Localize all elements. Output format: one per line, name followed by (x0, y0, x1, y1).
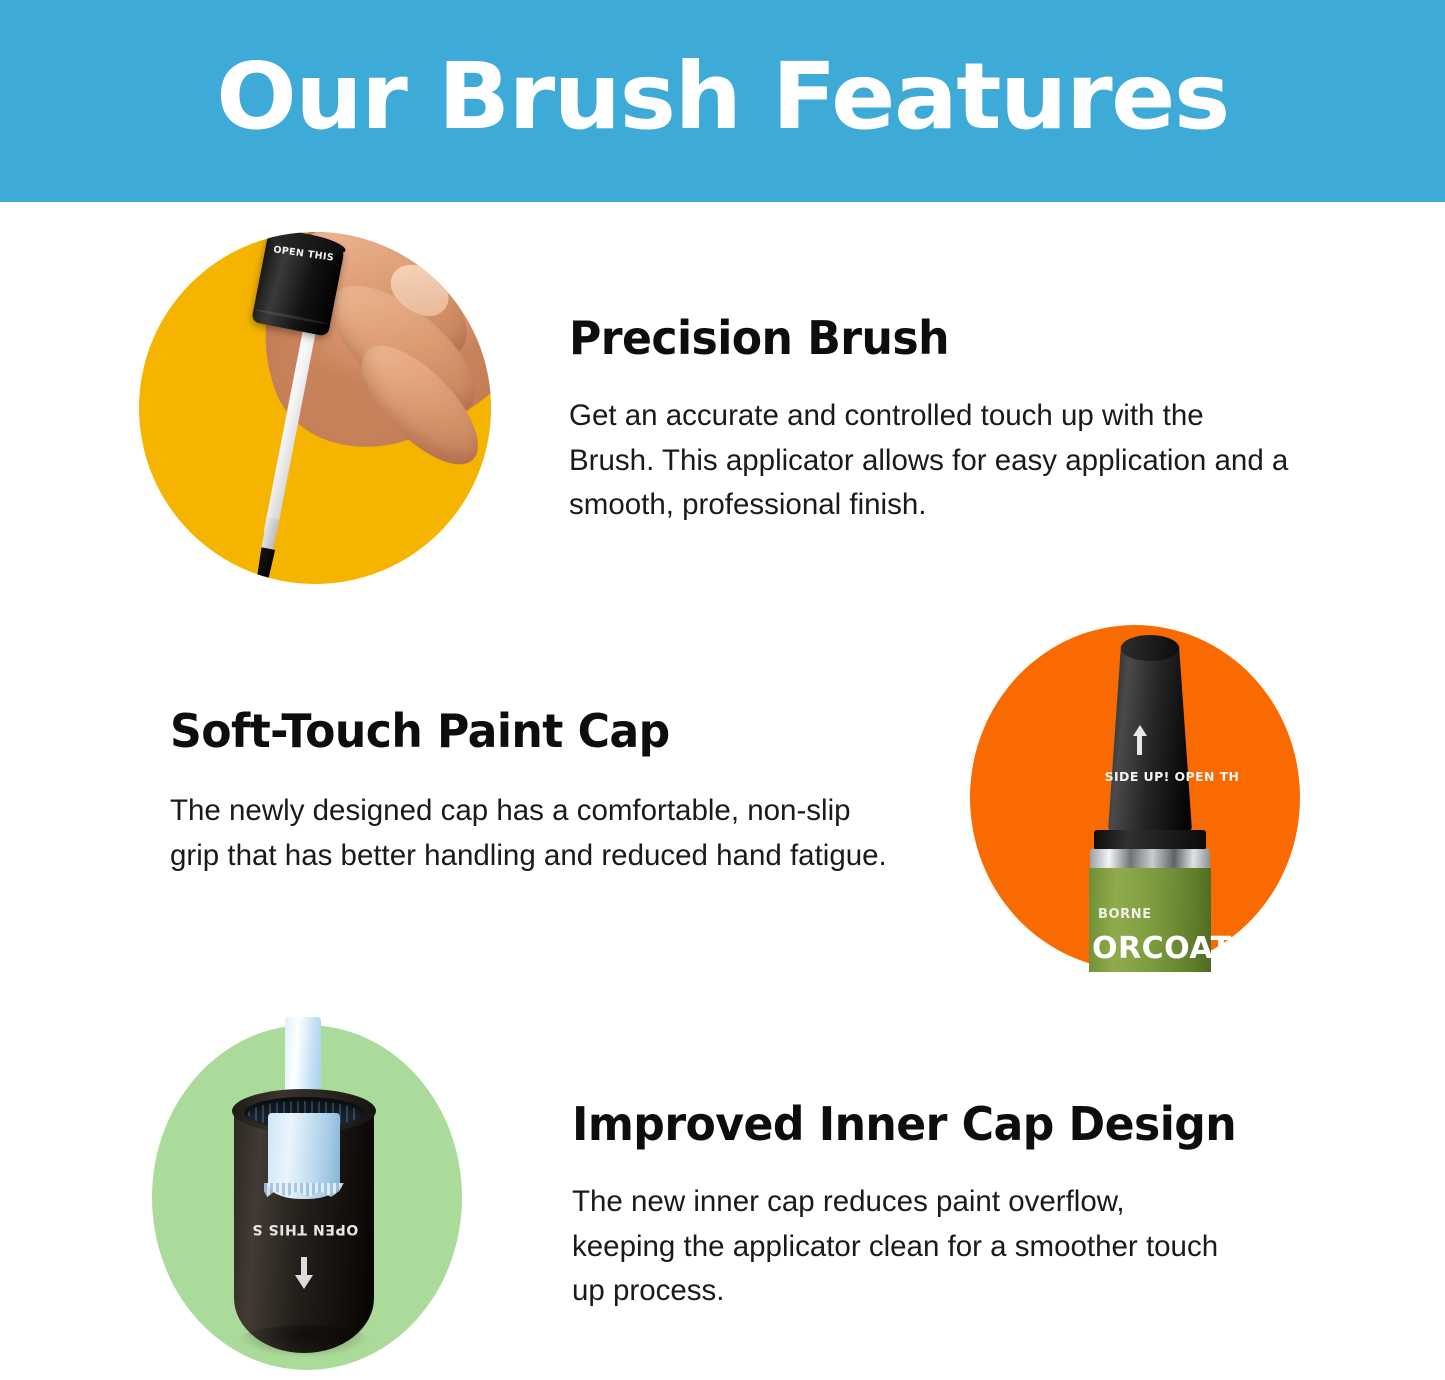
page-header-banner: Our Brush Features (0, 0, 1445, 202)
feature-body: The newly designed cap has a comfortable… (170, 789, 900, 879)
soft-touch-cap-photo: SIDE UP! OPEN TH BORNE ORCOAT (970, 625, 1300, 970)
bottle-label-large: ORCOAT (1092, 931, 1232, 966)
cap-dome (1121, 635, 1179, 661)
bottle-label-small: BORNE (1098, 907, 1152, 922)
cap-label-text: OPEN THIS S (247, 1221, 363, 1237)
feature-copy-improved-inner-cap-design: Improved Inner Cap Design The new inner … (572, 1100, 1272, 1314)
feature-body: Get an accurate and controlled touch up … (569, 394, 1294, 528)
precision-brush-photo: OPEN THIS (139, 232, 491, 584)
brush-ferrule (261, 517, 279, 553)
feature-row-soft-touch-paint-cap: Soft-Touch Paint Cap The newly designed … (0, 625, 1300, 970)
inner-cap-photo: OPEN THIS S (152, 1025, 462, 1370)
feature-title: Precision Brush (569, 314, 1270, 364)
feature-row-improved-inner-cap-design: OPEN THIS S Improved Inner Cap Design Th… (0, 1025, 1320, 1370)
down-arrow-icon (295, 1257, 313, 1291)
tapered-cap-body (1108, 639, 1192, 831)
page-title: Our Brush Features (216, 51, 1228, 151)
soft-touch-cap-illustration: SIDE UP! OPEN TH BORNE ORCOAT (970, 625, 1300, 970)
feature-title: Improved Inner Cap Design (572, 1100, 1244, 1150)
cap-label-text: SIDE UP! OPEN TH (1092, 769, 1252, 784)
brush-bristles (251, 547, 275, 584)
feature-title: Soft-Touch Paint Cap (170, 707, 873, 757)
feature-copy-precision-brush: Precision Brush Get an accurate and cont… (569, 314, 1299, 528)
cap-collar (1094, 830, 1206, 850)
feature-row-precision-brush: OPEN THIS Precision Brush Get an accurat… (0, 232, 1340, 584)
cap-base-shadow (238, 1325, 370, 1357)
cap-ring (255, 308, 328, 325)
feature-copy-soft-touch-paint-cap: Soft-Touch Paint Cap The newly designed … (170, 707, 902, 878)
feature-body: The new inner cap reduces paint overflow… (572, 1180, 1232, 1314)
precision-brush-illustration: OPEN THIS (139, 232, 491, 584)
inner-cap-illustration: OPEN THIS S (152, 1025, 462, 1370)
chrome-band (1090, 849, 1210, 869)
